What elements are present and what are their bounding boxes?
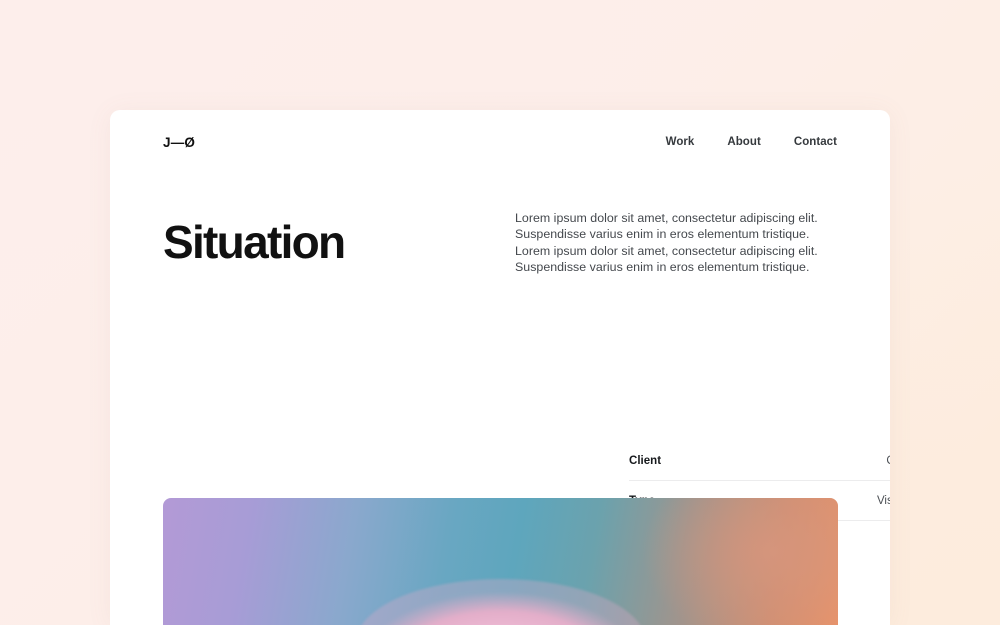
- description-column: Lorem ipsum dolor sit amet, consectetur …: [515, 210, 837, 276]
- nav-link-about[interactable]: About: [727, 136, 760, 148]
- meta-value-client: Client name: [886, 455, 890, 467]
- page-title: Situation: [163, 210, 515, 265]
- nav-link-work[interactable]: Work: [666, 136, 695, 148]
- primary-nav: Work About Contact: [666, 136, 837, 148]
- meta-key-client: Client: [629, 455, 661, 467]
- site-card: J—Ø Work About Contact Situation Lorem i…: [110, 110, 890, 625]
- meta-value-type: Visual identity: [877, 495, 890, 507]
- site-header: J—Ø Work About Contact: [110, 120, 890, 164]
- intro-section: Situation Lorem ipsum dolor sit amet, co…: [110, 210, 890, 276]
- nav-link-contact[interactable]: Contact: [794, 136, 837, 148]
- brand-logo[interactable]: J—Ø: [163, 135, 195, 150]
- hero-gradient-image: [163, 498, 838, 625]
- description-paragraph: Lorem ipsum dolor sit amet, consectetur …: [515, 210, 837, 276]
- title-column: Situation: [163, 210, 515, 265]
- table-row: Client Client name: [629, 441, 890, 481]
